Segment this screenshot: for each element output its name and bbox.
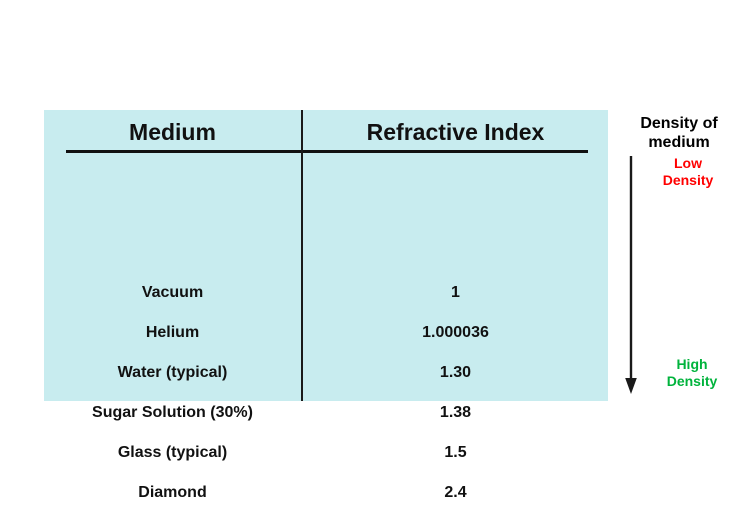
column-header-refractive-index: Refractive Index <box>303 116 608 148</box>
column-header-medium: Medium <box>44 116 301 148</box>
cell-medium: Water (typical) <box>44 358 301 388</box>
cell-medium: Helium <box>44 318 301 348</box>
table-row: Vacuum 1 <box>44 278 608 308</box>
density-annotation-title: Density ofmedium <box>612 114 746 152</box>
cell-refractive-index: 2.4 <box>303 478 608 508</box>
cell-medium: Glass (typical) <box>44 438 301 468</box>
refractive-index-table-panel: Medium Refractive Index Vacuum 1 Helium … <box>44 110 608 401</box>
table-row: Helium 1.000036 <box>44 318 608 348</box>
table-row: Diamond 2.4 <box>44 478 608 508</box>
high-density-label: HighDensity <box>634 356 750 390</box>
cell-refractive-index: 1.30 <box>303 358 608 388</box>
cell-refractive-index: 1.5 <box>303 438 608 468</box>
cell-refractive-index: 1.38 <box>303 398 608 428</box>
table-row: Water (typical) 1.30 <box>44 358 608 388</box>
table-row: Sugar Solution (30%) 1.38 <box>44 398 608 428</box>
cell-medium: Sugar Solution (30%) <box>44 398 301 428</box>
header-underline <box>66 150 588 153</box>
cell-medium: Diamond <box>44 478 301 508</box>
screenshot-root: Medium Refractive Index Vacuum 1 Helium … <box>0 0 750 500</box>
cell-refractive-index: 1.000036 <box>303 318 608 348</box>
cell-refractive-index: 1 <box>303 278 608 308</box>
density-annotation: Density ofmedium LowDensity HighDensity <box>612 110 750 405</box>
table-row: Glass (typical) 1.5 <box>44 438 608 468</box>
cell-medium: Vacuum <box>44 278 301 308</box>
